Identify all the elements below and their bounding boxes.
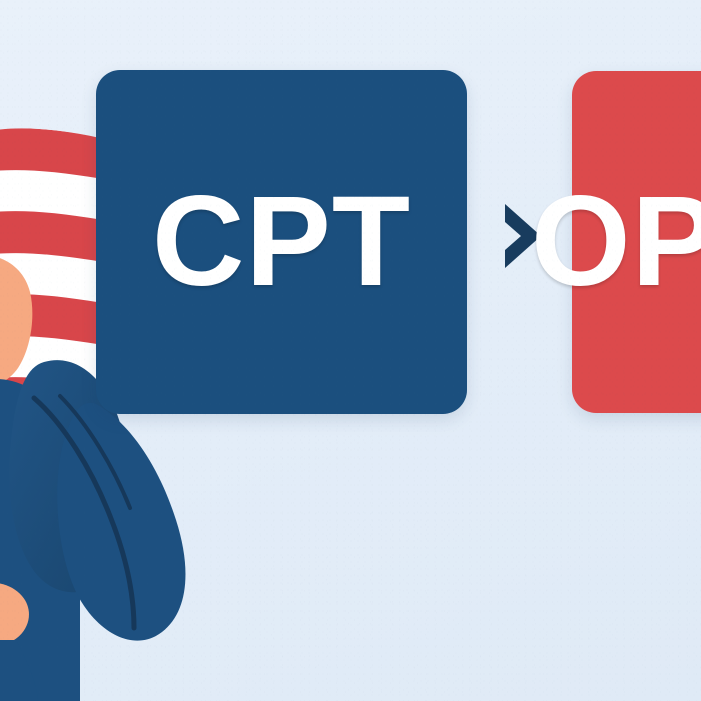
card-opt-label: OPT [531, 178, 701, 306]
card-cpt[interactable]: CPT [96, 70, 467, 414]
card-cpt-label: CPT [152, 178, 411, 306]
illustration-canvas: CPT OPT [0, 0, 701, 701]
card-opt[interactable]: OPT [572, 71, 701, 413]
